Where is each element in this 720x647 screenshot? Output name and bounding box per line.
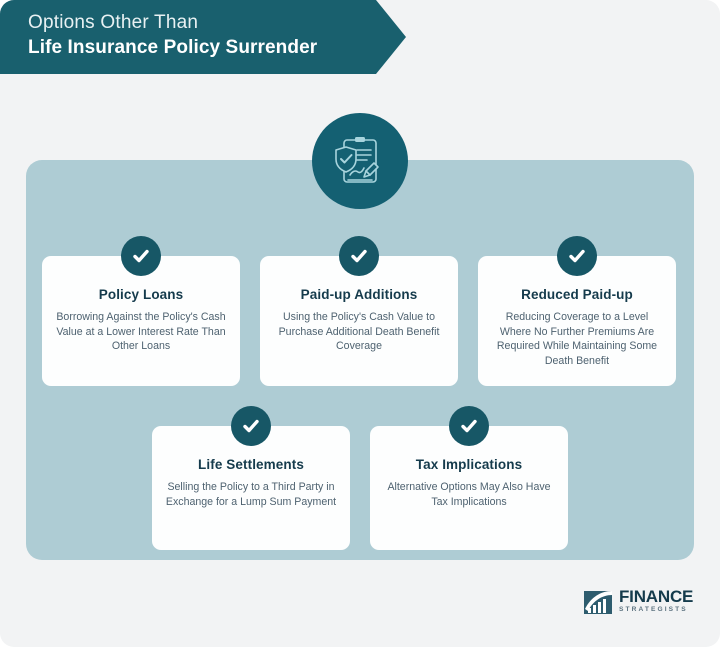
card-title: Tax Implications [382, 456, 556, 474]
card-description: Using the Policy's Cash Value to Purchas… [272, 310, 446, 354]
option-card-tax-implications[interactable]: Tax Implications Alternative Options May… [370, 426, 568, 550]
option-card-reduced-paid-up[interactable]: Reduced Paid-up Reducing Coverage to a L… [478, 256, 676, 386]
check-icon [557, 236, 597, 276]
policy-document-shield-pen-icon [312, 113, 408, 209]
card-description: Reducing Coverage to a Level Where No Fu… [490, 310, 664, 368]
header-banner: Options Other Than Life Insurance Policy… [0, 0, 406, 74]
logo-wordmark: FINANCE [619, 588, 693, 605]
check-icon [121, 236, 161, 276]
header-subtitle: Options Other Than [28, 10, 406, 35]
logo-text: FINANCE STRATEGISTS [619, 588, 693, 614]
logo-subwordmark: STRATEGISTS [619, 607, 693, 614]
card-description: Selling the Policy to a Third Party in E… [164, 480, 338, 509]
option-card-paid-up-additions[interactable]: Paid-up Additions Using the Policy's Cas… [260, 256, 458, 386]
finance-strategists-bars-icon [583, 587, 613, 615]
card-description: Alternative Options May Also Have Tax Im… [382, 480, 556, 509]
option-card-life-settlements[interactable]: Life Settlements Selling the Policy to a… [152, 426, 350, 550]
card-title: Policy Loans [54, 286, 228, 304]
option-card-policy-loans[interactable]: Policy Loans Borrowing Against the Polic… [42, 256, 240, 386]
card-description: Borrowing Against the Policy's Cash Valu… [54, 310, 228, 354]
card-title: Reduced Paid-up [490, 286, 664, 304]
finance-strategists-logo: FINANCE STRATEGISTS [583, 587, 693, 615]
check-icon [231, 406, 271, 446]
card-title: Paid-up Additions [272, 286, 446, 304]
check-icon [339, 236, 379, 276]
header-title: Life Insurance Policy Surrender [28, 35, 406, 61]
card-title: Life Settlements [164, 456, 338, 474]
check-icon [449, 406, 489, 446]
infographic-canvas: Options Other Than Life Insurance Policy… [0, 0, 720, 647]
